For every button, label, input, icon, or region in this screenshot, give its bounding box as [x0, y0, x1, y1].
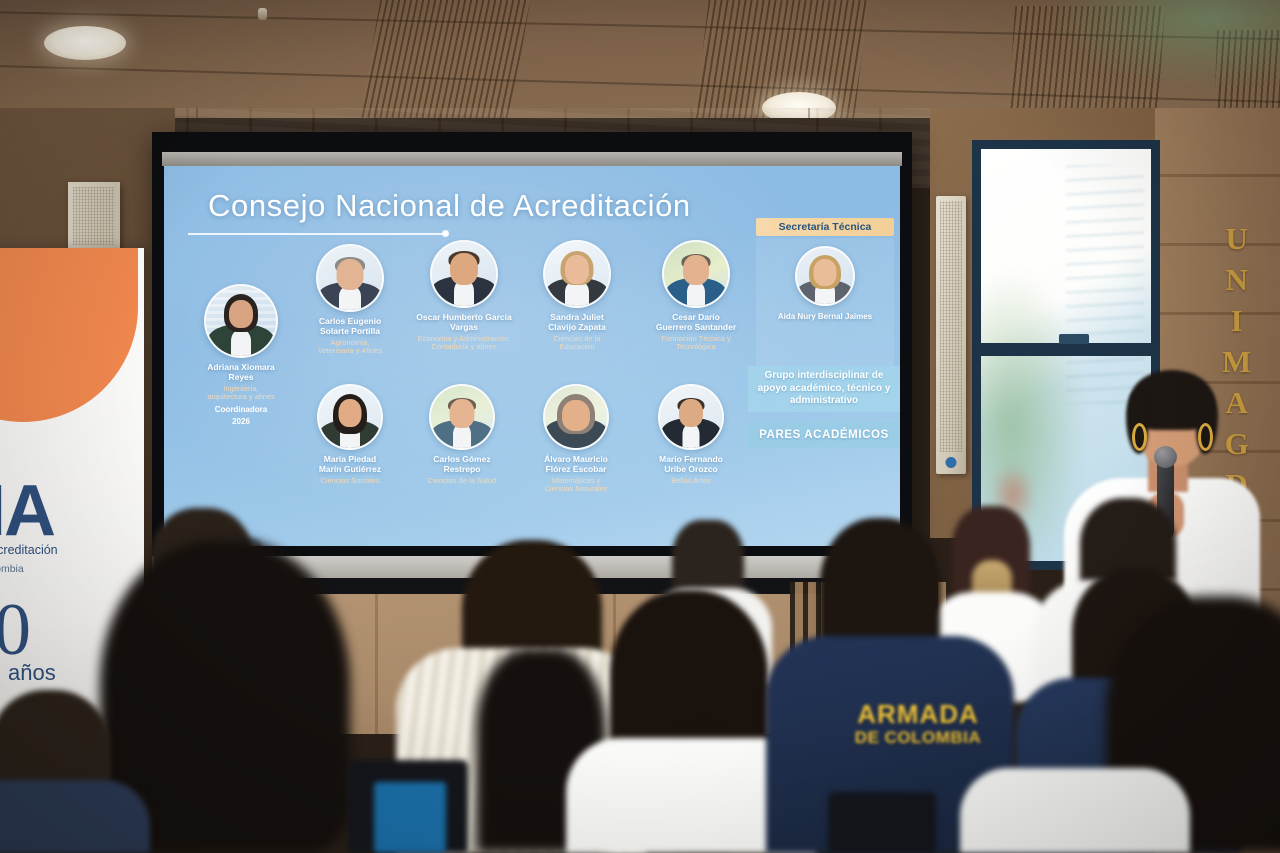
member-name: Carlos Gómez Restrepo: [404, 455, 520, 474]
title-dot: [442, 230, 449, 237]
avatar: [658, 384, 724, 450]
banner-orange-shape: [0, 248, 138, 422]
column-speaker: [936, 196, 966, 474]
member-area: Economía y Administración, Contaduría y …: [402, 335, 526, 352]
council-member: Oscar Humberto García Vargas Economía y …: [402, 240, 526, 352]
sprinkler-head: [258, 8, 267, 20]
wall-speaker-box: [68, 182, 120, 250]
avatar: [543, 384, 609, 450]
council-member: Cesar Darío Guerrero Santander Formación…: [634, 240, 758, 352]
secretariat-header: Secretaría Técnica: [756, 218, 894, 236]
member-year: 2026: [182, 417, 300, 426]
presentation-slide: Consejo Nacional de Acreditación Adriana…: [164, 166, 900, 546]
ceiling-downlight: [44, 26, 126, 60]
council-member: Carlos Gómez Restrepo Ciencias de la Sal…: [404, 384, 520, 485]
screen-top-lip: [162, 152, 902, 166]
secretariat-member: Aida Nury Bernal Jaimes: [756, 246, 894, 322]
council-member: Maria Piedad Marín Gutiérrez Ciencias So…: [292, 384, 408, 485]
chair-accent: [374, 782, 446, 853]
council-member: Sandra Juliet Clavijo Zapata Ciencias de…: [519, 240, 635, 352]
venue-letter: M: [1222, 341, 1251, 382]
presenter-earring-left: [1132, 423, 1147, 451]
avatar: [204, 284, 278, 358]
speaker-logo: [946, 457, 957, 468]
academic-peers-band: PARES ACADÉMICOS: [748, 422, 900, 448]
avatar: [543, 240, 611, 308]
member-name: Cesar Darío Guerrero Santander: [634, 313, 758, 332]
avatar: [317, 384, 383, 450]
member-area: Ingeniería, arquitectura y afines: [182, 385, 300, 402]
venue-letter: A: [1225, 382, 1247, 423]
council-member: Álvaro Mauricio Flórez Escobar Matemátic…: [516, 384, 636, 494]
member-role: Coordinadora: [182, 405, 300, 414]
avatar: [316, 244, 384, 312]
venue-letter: N: [1225, 259, 1247, 300]
avatar: [662, 240, 730, 308]
ceiling: [0, 0, 1280, 118]
member-name: Carlos Eugenio Solarte Portilla: [292, 317, 408, 336]
banner-anniversary-label: años: [8, 660, 56, 686]
banner-subtitle-2: a de Colombia: [0, 563, 24, 575]
member-name: Álvaro Mauricio Flórez Escobar: [516, 455, 636, 474]
council-member: Mario Fernando Uribe Orozco Bellas Artes: [632, 384, 750, 485]
secretariat-name: Aida Nury Bernal Jaimes: [756, 313, 894, 322]
chair: [828, 792, 936, 853]
council-member-coordinator: Adriana Xiomara Reyes Ingeniería, arquit…: [182, 284, 300, 426]
slide-title: Consejo Nacional de Acreditación: [208, 188, 691, 224]
presenter-earring-right: [1198, 423, 1213, 451]
member-area: Agronomía, Veterinaria y Afines: [292, 339, 408, 356]
jacket-line-1: ARMADA: [857, 699, 979, 729]
jacket-text-armada: ARMADA: [838, 702, 998, 727]
banner-subtitle: nal de Acreditación: [0, 543, 58, 557]
member-name: Adriana Xiomara Reyes: [182, 363, 300, 382]
member-area: Ciencias de la Salud: [404, 477, 520, 485]
member-name: Maria Piedad Marín Gutiérrez: [292, 455, 408, 474]
member-name: Oscar Humberto García Vargas: [402, 313, 526, 332]
venue-letter: G: [1225, 423, 1249, 464]
interdisciplinary-group-band: Grupo interdisciplinar de apoyo académic…: [748, 366, 900, 412]
jacket-text-colombia: DE COLOMBIA: [832, 730, 1004, 746]
member-name: Mario Fernando Uribe Orozco: [632, 455, 750, 474]
member-name: Sandra Juliet Clavijo Zapata: [519, 313, 635, 332]
avatar: [430, 240, 498, 308]
member-area: Bellas Artes: [632, 477, 750, 485]
title-underline: [188, 233, 446, 235]
microphone-head: [1154, 446, 1177, 468]
avatar: [429, 384, 495, 450]
avatar: [795, 246, 855, 306]
venue-letter: I: [1231, 300, 1243, 341]
member-area: Formación Técnica y Tecnológica: [634, 335, 758, 352]
member-area: Ciencias Sociales: [292, 477, 408, 485]
ceiling-green-reflection: [1050, 0, 1280, 90]
council-member: Carlos Eugenio Solarte Portilla Agronomí…: [292, 244, 408, 356]
banner-logo: NA: [0, 470, 54, 552]
venue-letter: U: [1225, 218, 1247, 259]
member-area: Ciencias de la Educación: [519, 335, 635, 352]
jacket-line-2: DE COLOMBIA: [855, 728, 981, 747]
member-area: Matemáticas y Ciencias Naturales: [516, 477, 636, 494]
conference-room-scene: U N I M A G D A L E Consejo Nacional de …: [0, 0, 1280, 853]
